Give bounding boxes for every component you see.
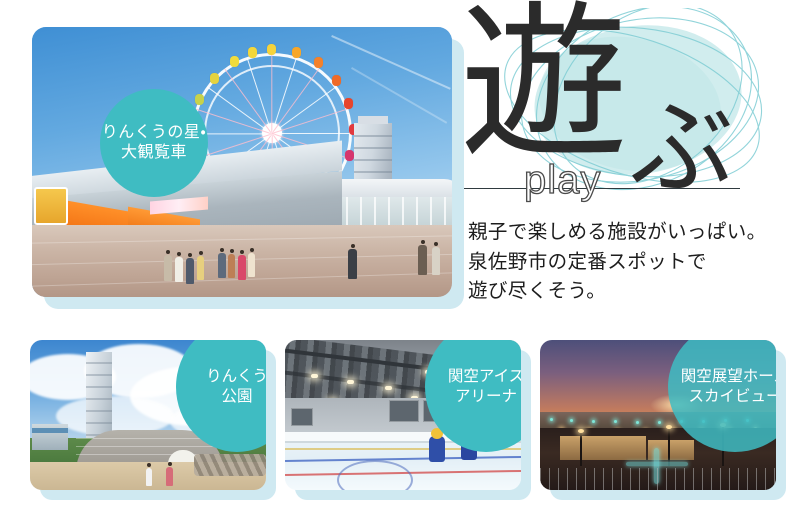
hero-badge-line-2: 大観覧車 (121, 143, 187, 163)
visitor (186, 258, 194, 284)
visitor (164, 255, 172, 281)
visitor (228, 254, 235, 278)
title-kana: ぶ (630, 96, 734, 200)
play-section: 遊 ぶ play 親子で楽しめる施設がいっぱい。 泉佐野市の定番スポットで 遊び… (0, 0, 800, 515)
thumb-badge-line-1: りんくう (206, 367, 266, 387)
thumb-badge-line-1: 関空展望ホール (681, 367, 776, 387)
visitor (418, 245, 427, 275)
perimeter-fence (540, 468, 776, 490)
thumb-badge-line-2: 公園 (221, 387, 252, 407)
pavilion (32, 424, 68, 450)
mascot-character (429, 436, 445, 462)
thumb-badge-line-2: アリーナ (455, 387, 517, 407)
thumbnail-photo-sky-view[interactable]: 関空展望ホール スカイビュー (540, 340, 776, 490)
lead-line-2: 泉佐野市の定番スポットで (468, 248, 798, 278)
visitor (238, 255, 246, 280)
thumbnail-photo-ice-arena[interactable]: 関空アイス アリーナ (285, 340, 521, 490)
visitor (146, 468, 152, 486)
title-romaji: play (524, 160, 601, 200)
thumbnail-photo-rinku-park[interactable]: りんくう 公園 (30, 340, 266, 490)
thumbnail-card-rinku-park[interactable]: りんくう 公園 (30, 340, 266, 490)
title-kanji: 遊 (460, 0, 628, 168)
hero-photo[interactable]: りんくうの星・ 大観覧車 (32, 27, 452, 297)
shop-signboard (34, 187, 68, 225)
hero-photo-label-badge[interactable]: りんくうの星・ 大観覧車 (100, 89, 208, 197)
visitor (175, 257, 183, 282)
thumbnail-card-ice-arena[interactable]: 関空アイス アリーナ (285, 340, 521, 490)
lead-line-1: 親子で楽しめる施設がいっぱい。 (468, 218, 798, 248)
lead-line-3: 遊び尽くそう。 (468, 277, 798, 307)
thumb-badge-line-1: 関空アイス (448, 367, 521, 387)
visitor (197, 256, 204, 280)
lead-paragraph: 親子で楽しめる施設がいっぱい。 泉佐野市の定番スポットで 遊び尽くそう。 (468, 218, 798, 307)
visitor (166, 467, 173, 486)
breakwater-rocks (194, 454, 266, 476)
visitor (348, 249, 357, 279)
visitor (432, 247, 440, 275)
title-block: 遊 ぶ play (452, 8, 800, 208)
visitor (218, 253, 226, 278)
visitor (248, 253, 255, 277)
thumbnail-card-sky-view[interactable]: 関空展望ホール スカイビュー (540, 340, 776, 490)
hero-badge-line-1: りんくうの星・ (102, 123, 207, 143)
thumb-badge-line-2: スカイビュー (688, 387, 776, 407)
